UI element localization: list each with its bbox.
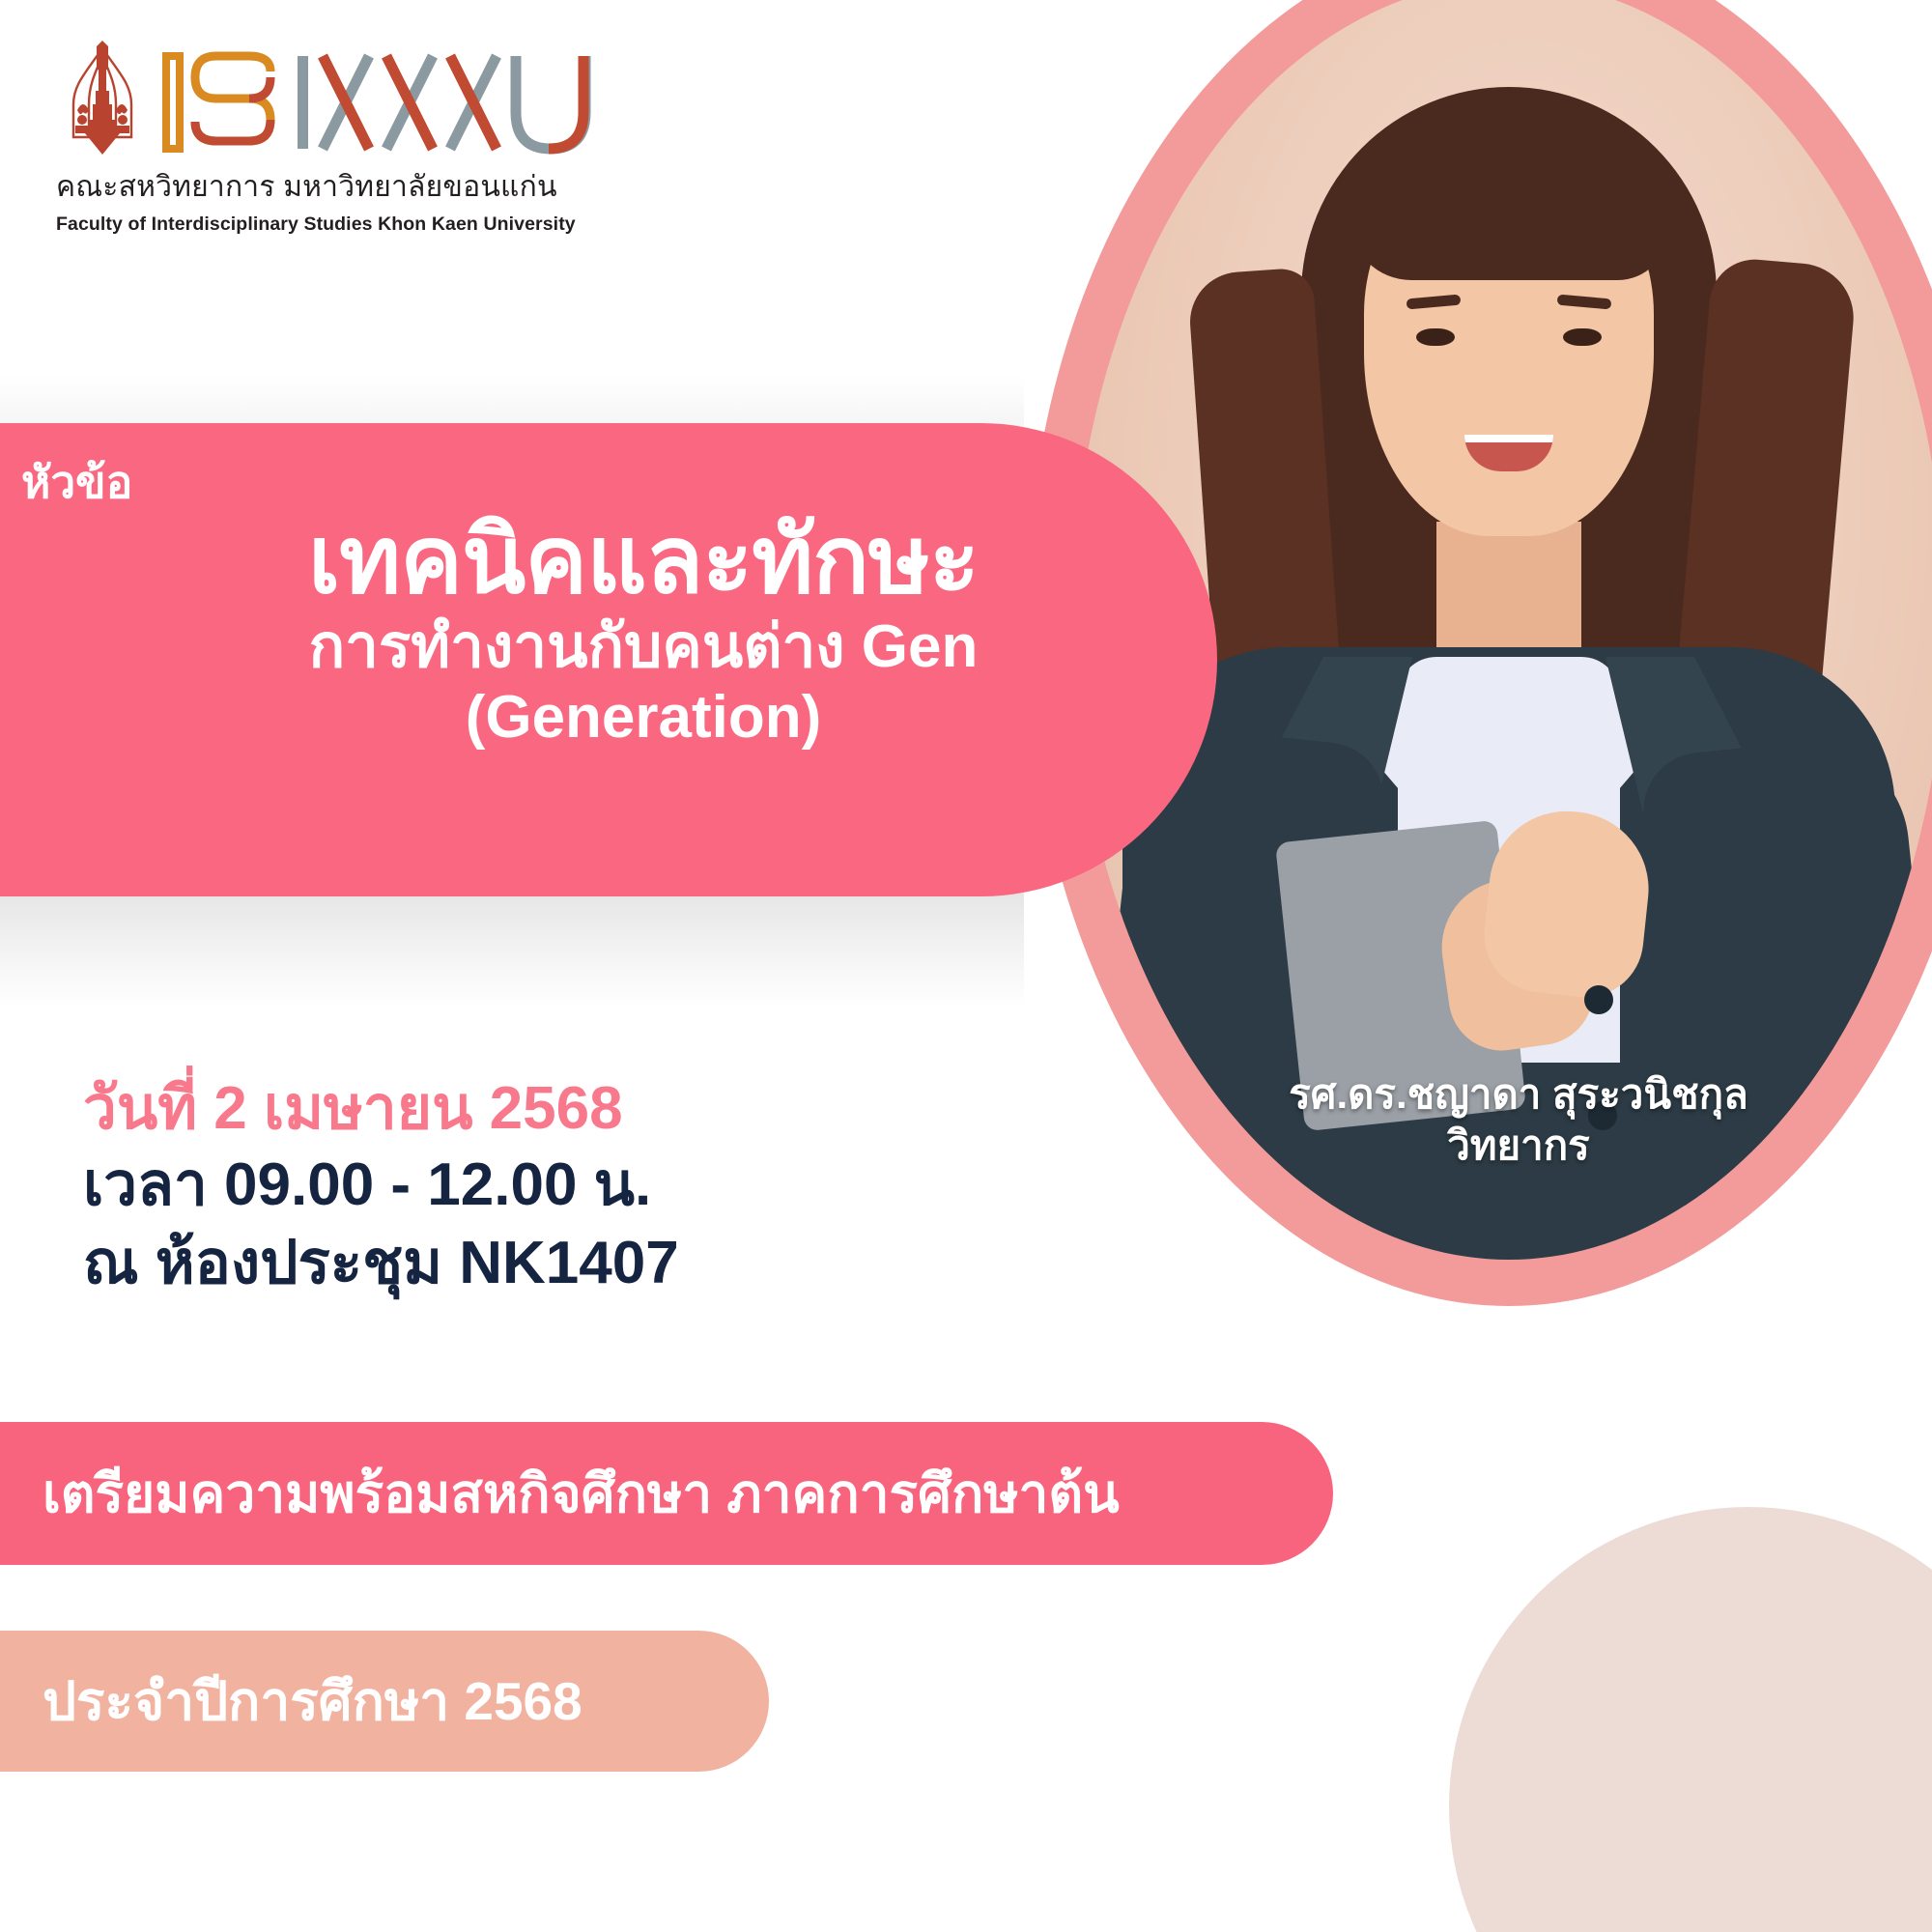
faculty-name-thai: คณะสหวิทยาการ มหาวิทยาลัยขอนแก่น: [56, 164, 607, 210]
decorative-blush-circle: [1449, 1507, 1932, 1932]
program-ribbon-primary-label: เตรียมความพร้อมสหกิจศึกษา ภาคการศึกษาต้น: [43, 1452, 1120, 1536]
poster-canvas: คณะสหวิทยาการ มหาวิทยาลัยขอนแก่น Faculty…: [0, 0, 1932, 1932]
program-ribbon-secondary-label: ประจำปีการศึกษา 2568: [43, 1660, 582, 1744]
event-date: วันที่ 2 เมษายน 2568: [83, 1070, 679, 1147]
khon-kaen-university-pagoda-emblem-icon: [56, 41, 149, 156]
seminar-title-main: เทคนิคและทักษะ: [21, 510, 1159, 611]
seminar-title-sub-line2: (Generation): [21, 682, 1159, 753]
event-venue: ณ ห้องประชุม NK1407: [83, 1225, 679, 1303]
event-details: วันที่ 2 เมษายน 2568 เวลา 09.00 - 12.00 …: [83, 1070, 679, 1303]
logo-row: [56, 41, 607, 156]
event-time: เวลา 09.00 - 12.00 น.: [83, 1147, 679, 1225]
faculty-name-english: Faculty of Interdisciplinary Studies Kho…: [56, 213, 607, 236]
program-ribbon-secondary: ประจำปีการศึกษา 2568: [0, 1631, 769, 1772]
speaker-role: วิทยากร: [1026, 1121, 1932, 1172]
iskku-logo: คณะสหวิทยาการ มหาวิทยาลัยขอนแก่น Faculty…: [56, 41, 607, 236]
seminar-title-sub-line1: การทำงานกับคนต่าง Gen: [21, 611, 1159, 682]
program-ribbon-primary: เตรียมความพร้อมสหกิจศึกษา ภาคการศึกษาต้น: [0, 1422, 1333, 1565]
speaker-name: รศ.ดร.ชญาดา สุระวนิชกุล: [1026, 1069, 1932, 1121]
title-banner: หัวข้อ เทคนิคและทักษะ การทำงานกับคนต่าง …: [0, 423, 1217, 896]
topic-label: หัวข้อ: [21, 460, 1159, 504]
iskku-wordmark: [162, 48, 599, 156]
speaker-caption: รศ.ดร.ชญาดา สุระวนิชกุล วิทยากร: [1026, 1069, 1932, 1171]
